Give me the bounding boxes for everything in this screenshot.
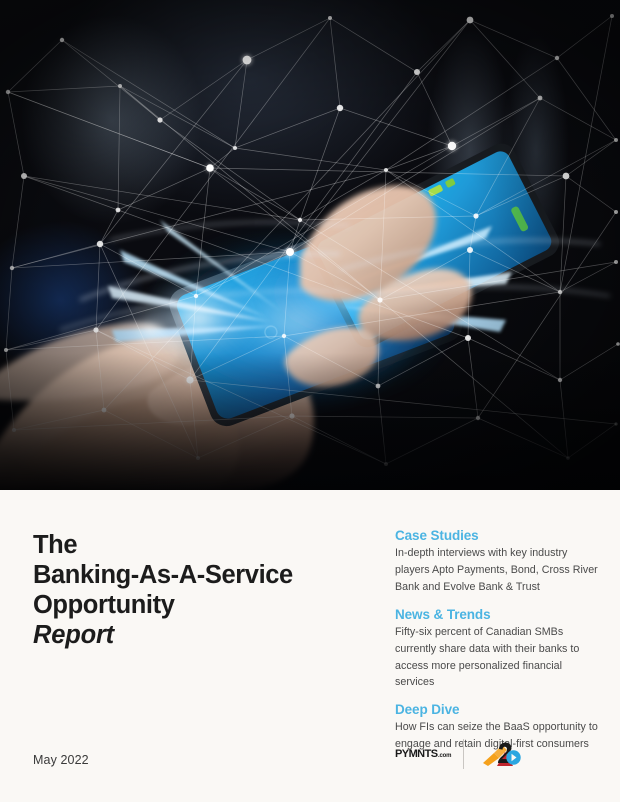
section-heading-deep-dive: Deep Dive <box>395 702 600 717</box>
section-heading-case-studies: Case Studies <box>395 528 600 543</box>
logo-divider <box>463 739 464 769</box>
highlight-section-case-studies: Case Studies In-depth interviews with ke… <box>395 528 600 596</box>
report-cover-page: The Banking-As-A-Service Opportunity Rep… <box>0 0 620 802</box>
hero-image <box>0 0 620 490</box>
pymnts-logo-tld: .com <box>438 753 451 759</box>
highlight-section-news-trends: News & Trends Fifty-six percent of Canad… <box>395 607 600 692</box>
page-title: The Banking-As-A-Service Opportunity Rep… <box>33 530 378 650</box>
title-line-3: Opportunity <box>33 591 175 619</box>
section-heading-news-trends: News & Trends <box>395 607 600 622</box>
section-body-news-trends: Fifty-six percent of Canadian SMBs curre… <box>395 624 600 692</box>
title-line-4: Report <box>33 621 114 649</box>
cover-info-panel: The Banking-As-A-Service Opportunity Rep… <box>0 490 620 802</box>
title-line-1: The <box>33 531 77 559</box>
i2c-logo <box>482 739 524 769</box>
pymnts-logo: PYMNTS.com <box>395 748 451 760</box>
title-line-2: Banking-As-A-Service <box>33 561 293 589</box>
highlights-column: Case Studies In-depth interviews with ke… <box>395 528 600 753</box>
publication-date: May 2022 <box>33 753 89 767</box>
section-body-case-studies: In-depth interviews with key industry pl… <box>395 545 600 596</box>
pymnts-logo-wordmark: PYMNTS <box>395 748 438 760</box>
network-overlay <box>0 0 620 490</box>
title-block: The Banking-As-A-Service Opportunity Rep… <box>33 530 378 650</box>
logo-row: PYMNTS.com <box>395 733 600 775</box>
